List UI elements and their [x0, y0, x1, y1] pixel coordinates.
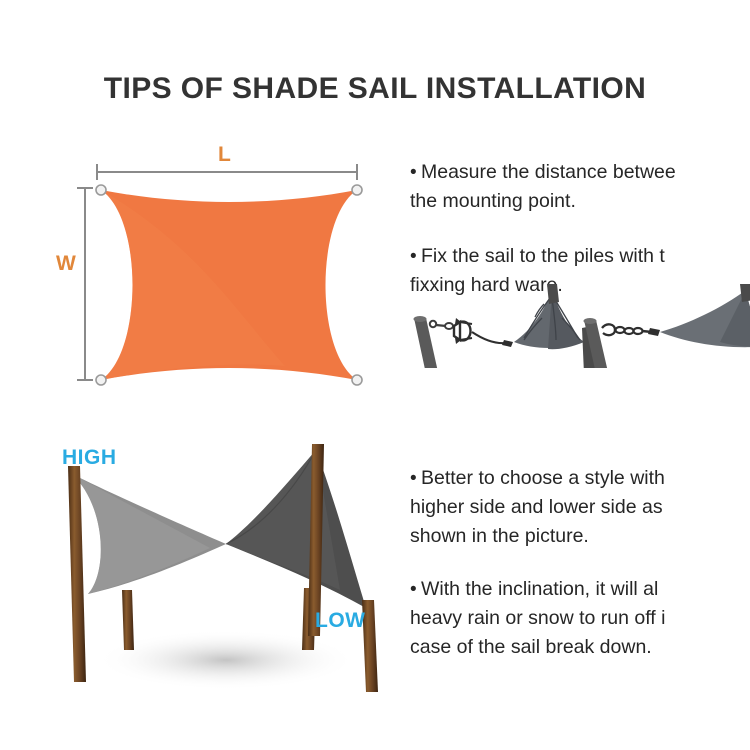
tips-list-top: •Measure the distance betwee the mountin…	[410, 158, 750, 300]
snap-hook-icon	[602, 324, 615, 335]
tip-line: •With the inclination, it will al	[410, 575, 750, 604]
tip-paragraph: •Measure the distance betwee the mountin…	[410, 158, 750, 216]
inclined-sail-diagram: HIGH LOW	[30, 432, 420, 712]
rectangular-sail-diagram: L W	[55, 140, 400, 400]
length-dimension-label: L	[218, 143, 231, 167]
bullet-icon: •	[410, 158, 421, 187]
tip-text: Better to choose a style with	[421, 467, 665, 489]
tip-line: case of the sail break down.	[410, 633, 750, 662]
inclined-sail-svg	[30, 432, 420, 712]
width-dimension-label: W	[56, 252, 76, 276]
page-title: TIPS OF SHADE SAIL INSTALLATION	[0, 72, 750, 106]
bullet-icon: •	[410, 575, 421, 604]
hardware-assembly-turnbuckle	[414, 284, 597, 368]
tip-paragraph: •With the inclination, it will al heavy …	[410, 575, 750, 662]
grommet-icon	[96, 185, 106, 195]
bullet-icon: •	[410, 464, 421, 493]
eye-bolt-icon	[430, 321, 436, 327]
post-icon	[68, 466, 86, 682]
post-icon	[414, 318, 438, 368]
grommet-icon	[352, 375, 362, 385]
bullet-icon: •	[410, 242, 421, 271]
tip-text: Fix the sail to the piles with t	[421, 245, 665, 267]
tip-line: •Measure the distance betwee	[410, 158, 750, 187]
chain-icon	[616, 327, 643, 334]
post-icon	[122, 590, 134, 650]
hardware-svg	[404, 284, 750, 368]
cable-icon	[472, 332, 506, 343]
tip-line: higher side and lower side as	[410, 493, 750, 522]
post-icon	[547, 284, 559, 304]
tip-line: shown in the picture.	[410, 522, 750, 551]
high-side-label: HIGH	[62, 446, 117, 470]
tip-line: the mounting point.	[410, 187, 750, 216]
turnbuckle-icon	[454, 322, 460, 340]
sail-shape-svg	[55, 140, 400, 400]
tip-line: •Fix the sail to the piles with t	[410, 242, 750, 271]
hardware-assembly-chain	[584, 284, 750, 368]
tip-text: With the inclination, it will al	[421, 578, 658, 600]
grommet-icon	[352, 185, 362, 195]
ground-shadow	[96, 630, 356, 690]
fixing-hardware-illustrations	[404, 284, 750, 368]
grommet-icon	[96, 375, 106, 385]
infographic-page: TIPS OF SHADE SAIL INSTALLATION L W	[0, 0, 750, 750]
width-dimension-line	[77, 188, 93, 380]
tips-list-bottom: •Better to choose a style with higher si…	[410, 464, 750, 686]
low-side-label: LOW	[315, 609, 365, 633]
tip-line: •Better to choose a style with	[410, 464, 750, 493]
tip-paragraph: •Better to choose a style with higher si…	[410, 464, 750, 551]
tip-line: heavy rain or snow to run off i	[410, 604, 750, 633]
tip-text: Measure the distance betwee	[421, 161, 676, 183]
